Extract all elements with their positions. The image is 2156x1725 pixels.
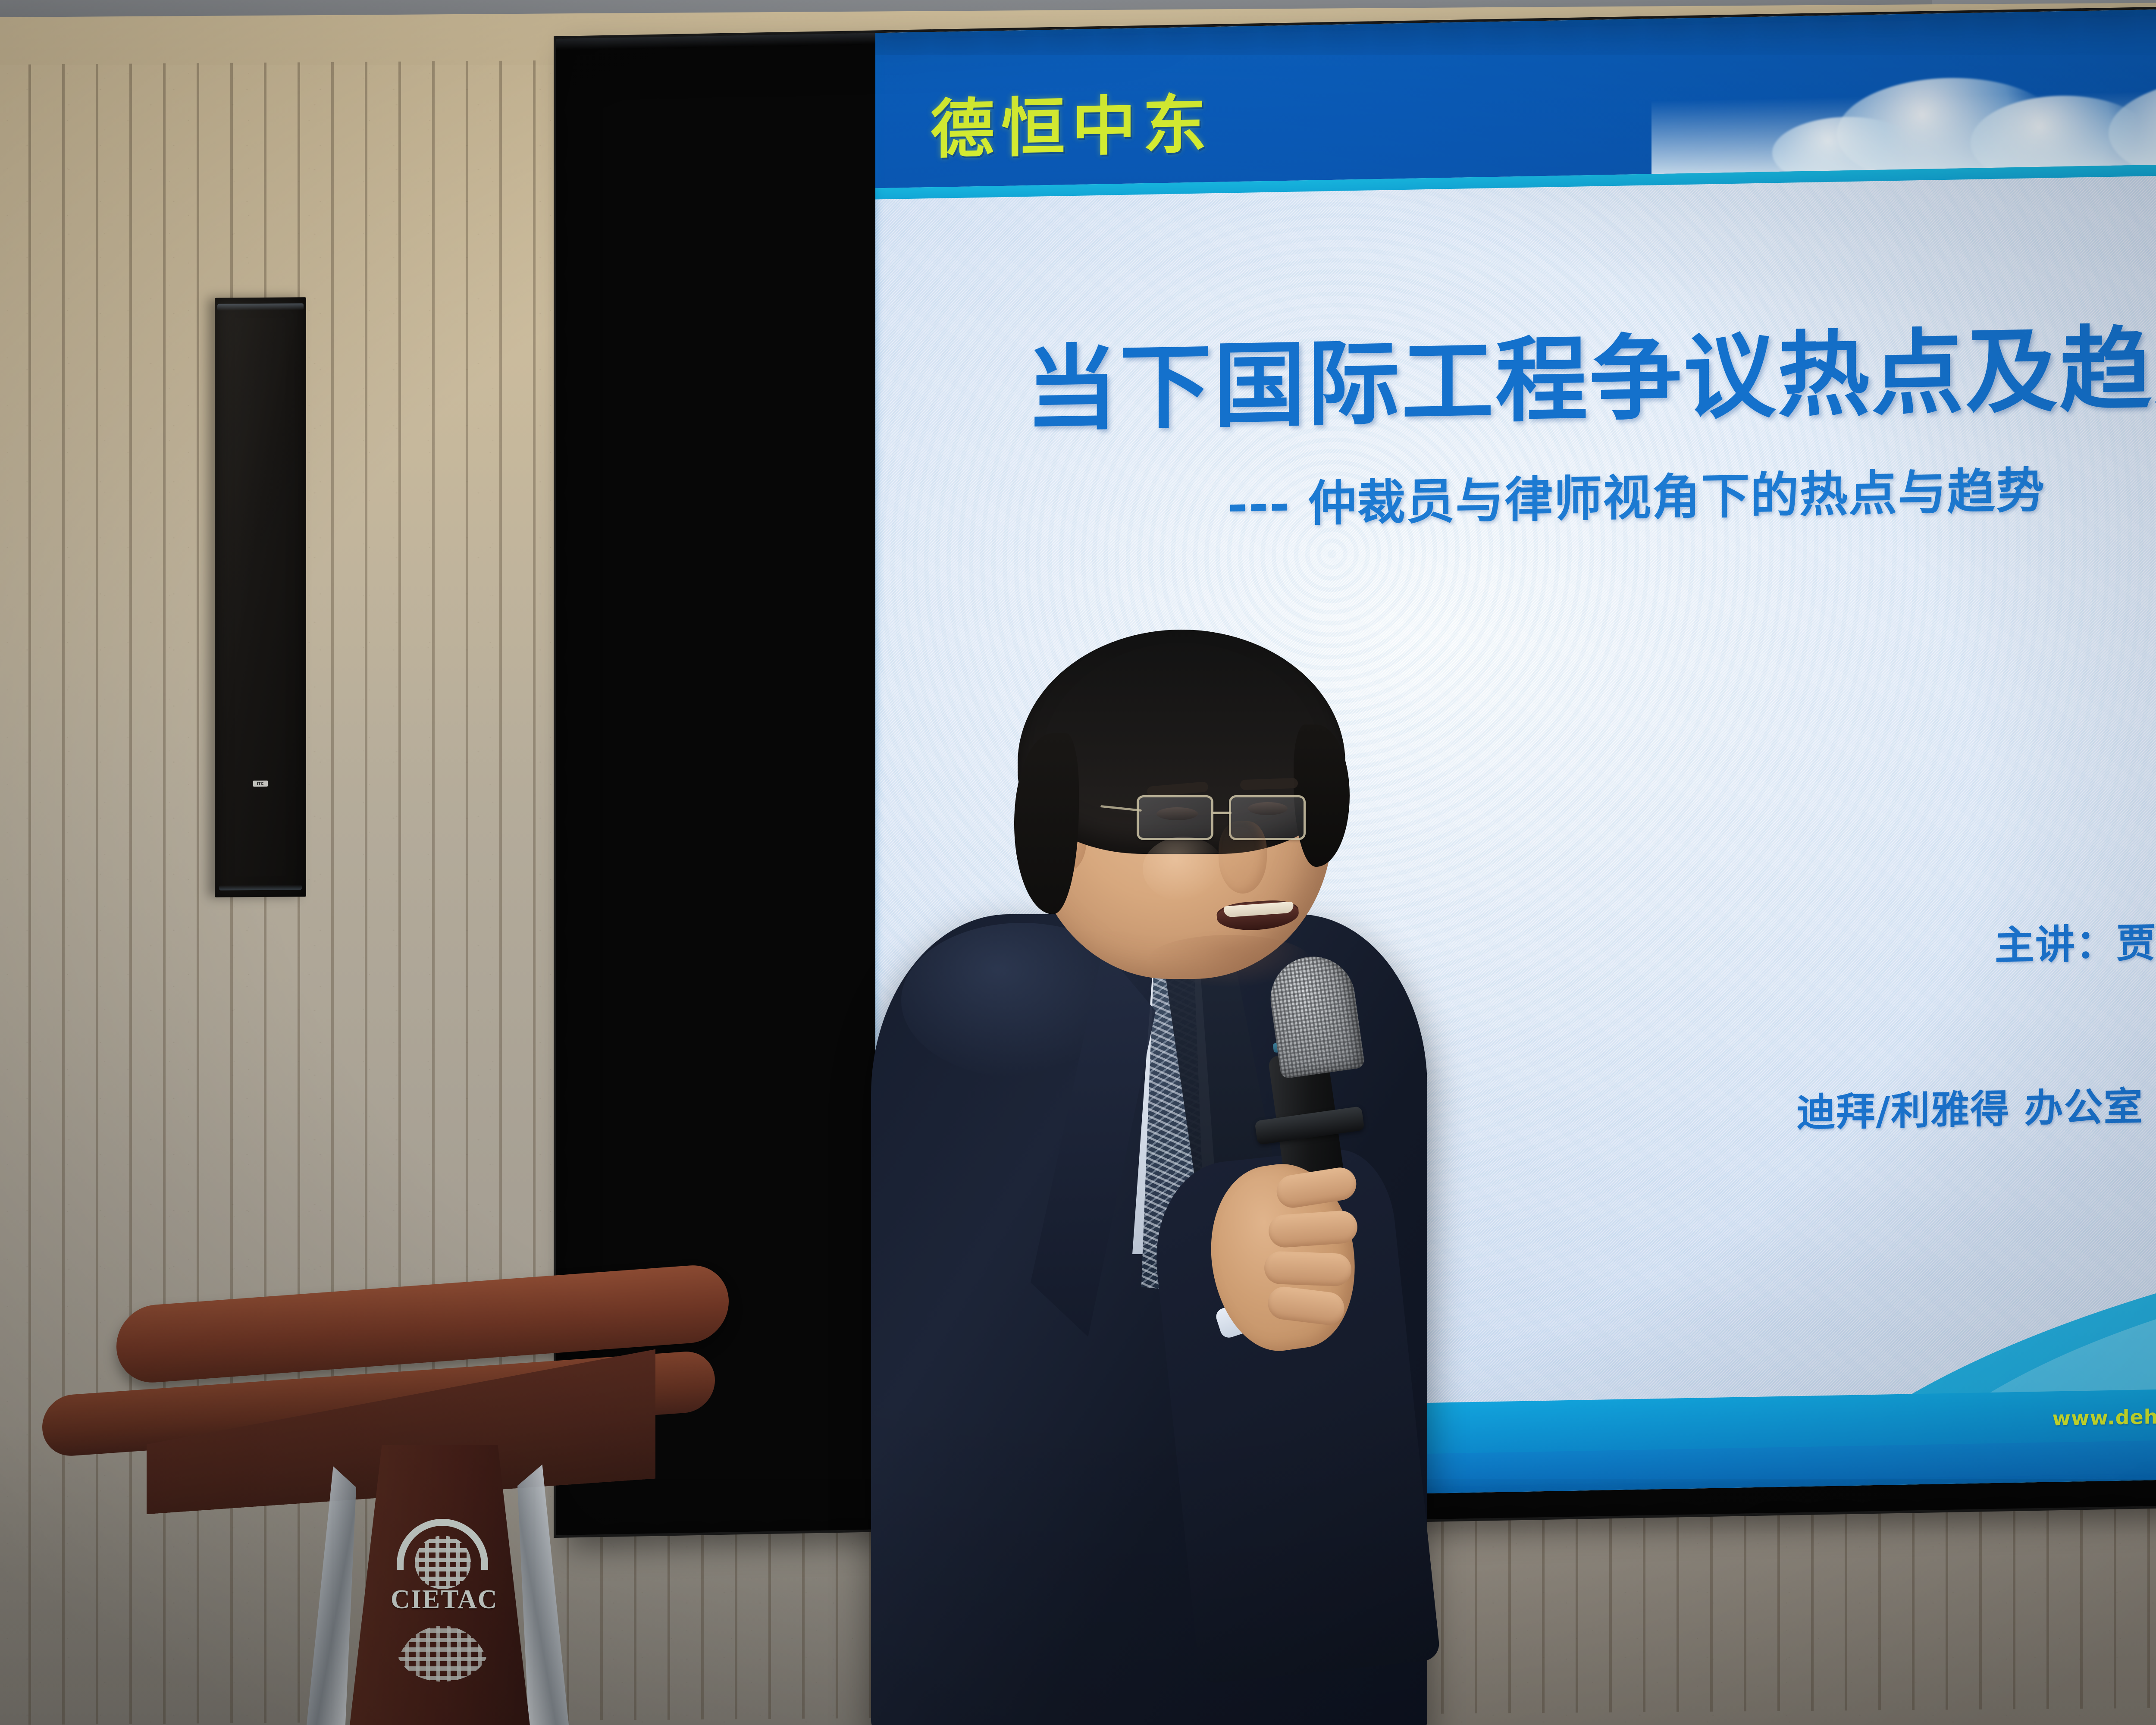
conference-room-scene: ITC 德恒中东 [0, 0, 2156, 1725]
nose [1219, 821, 1267, 894]
glasses-bridge [1213, 812, 1232, 814]
cietac-emblem-icon: CIETAC [391, 1519, 494, 1618]
finger [1264, 1251, 1352, 1286]
presenter-credit-line: 主讲：贾怀远 [1995, 910, 2156, 971]
slide-brand-title: 德恒中东 [931, 72, 1213, 170]
slide-header-band: 德恒中东 保密 [875, 5, 2156, 188]
cietac-podium: CIETAC [9, 1281, 875, 1725]
lens-left [1137, 795, 1213, 840]
slide-website-url: www.dehengdubai.com [2053, 1402, 2156, 1430]
eyebrow-right [1240, 778, 1298, 790]
header-cloud-haze [1651, 87, 2156, 174]
presenter-office-line: 迪拜/利雅得 办公室 主任 [1796, 1073, 2156, 1138]
slide-title: 当下国际工程争议热点及趋势 [875, 290, 2156, 452]
podium-chrome-left [306, 1466, 356, 1725]
presenter-figure [845, 647, 1457, 1725]
cheek-highlight [1143, 837, 1225, 901]
wall-speaker-left: ITC [215, 297, 306, 897]
finger [1268, 1210, 1359, 1248]
speaker-brand-label: ITC [253, 781, 268, 787]
cietac-wordmark: CIETAC [391, 1584, 494, 1615]
